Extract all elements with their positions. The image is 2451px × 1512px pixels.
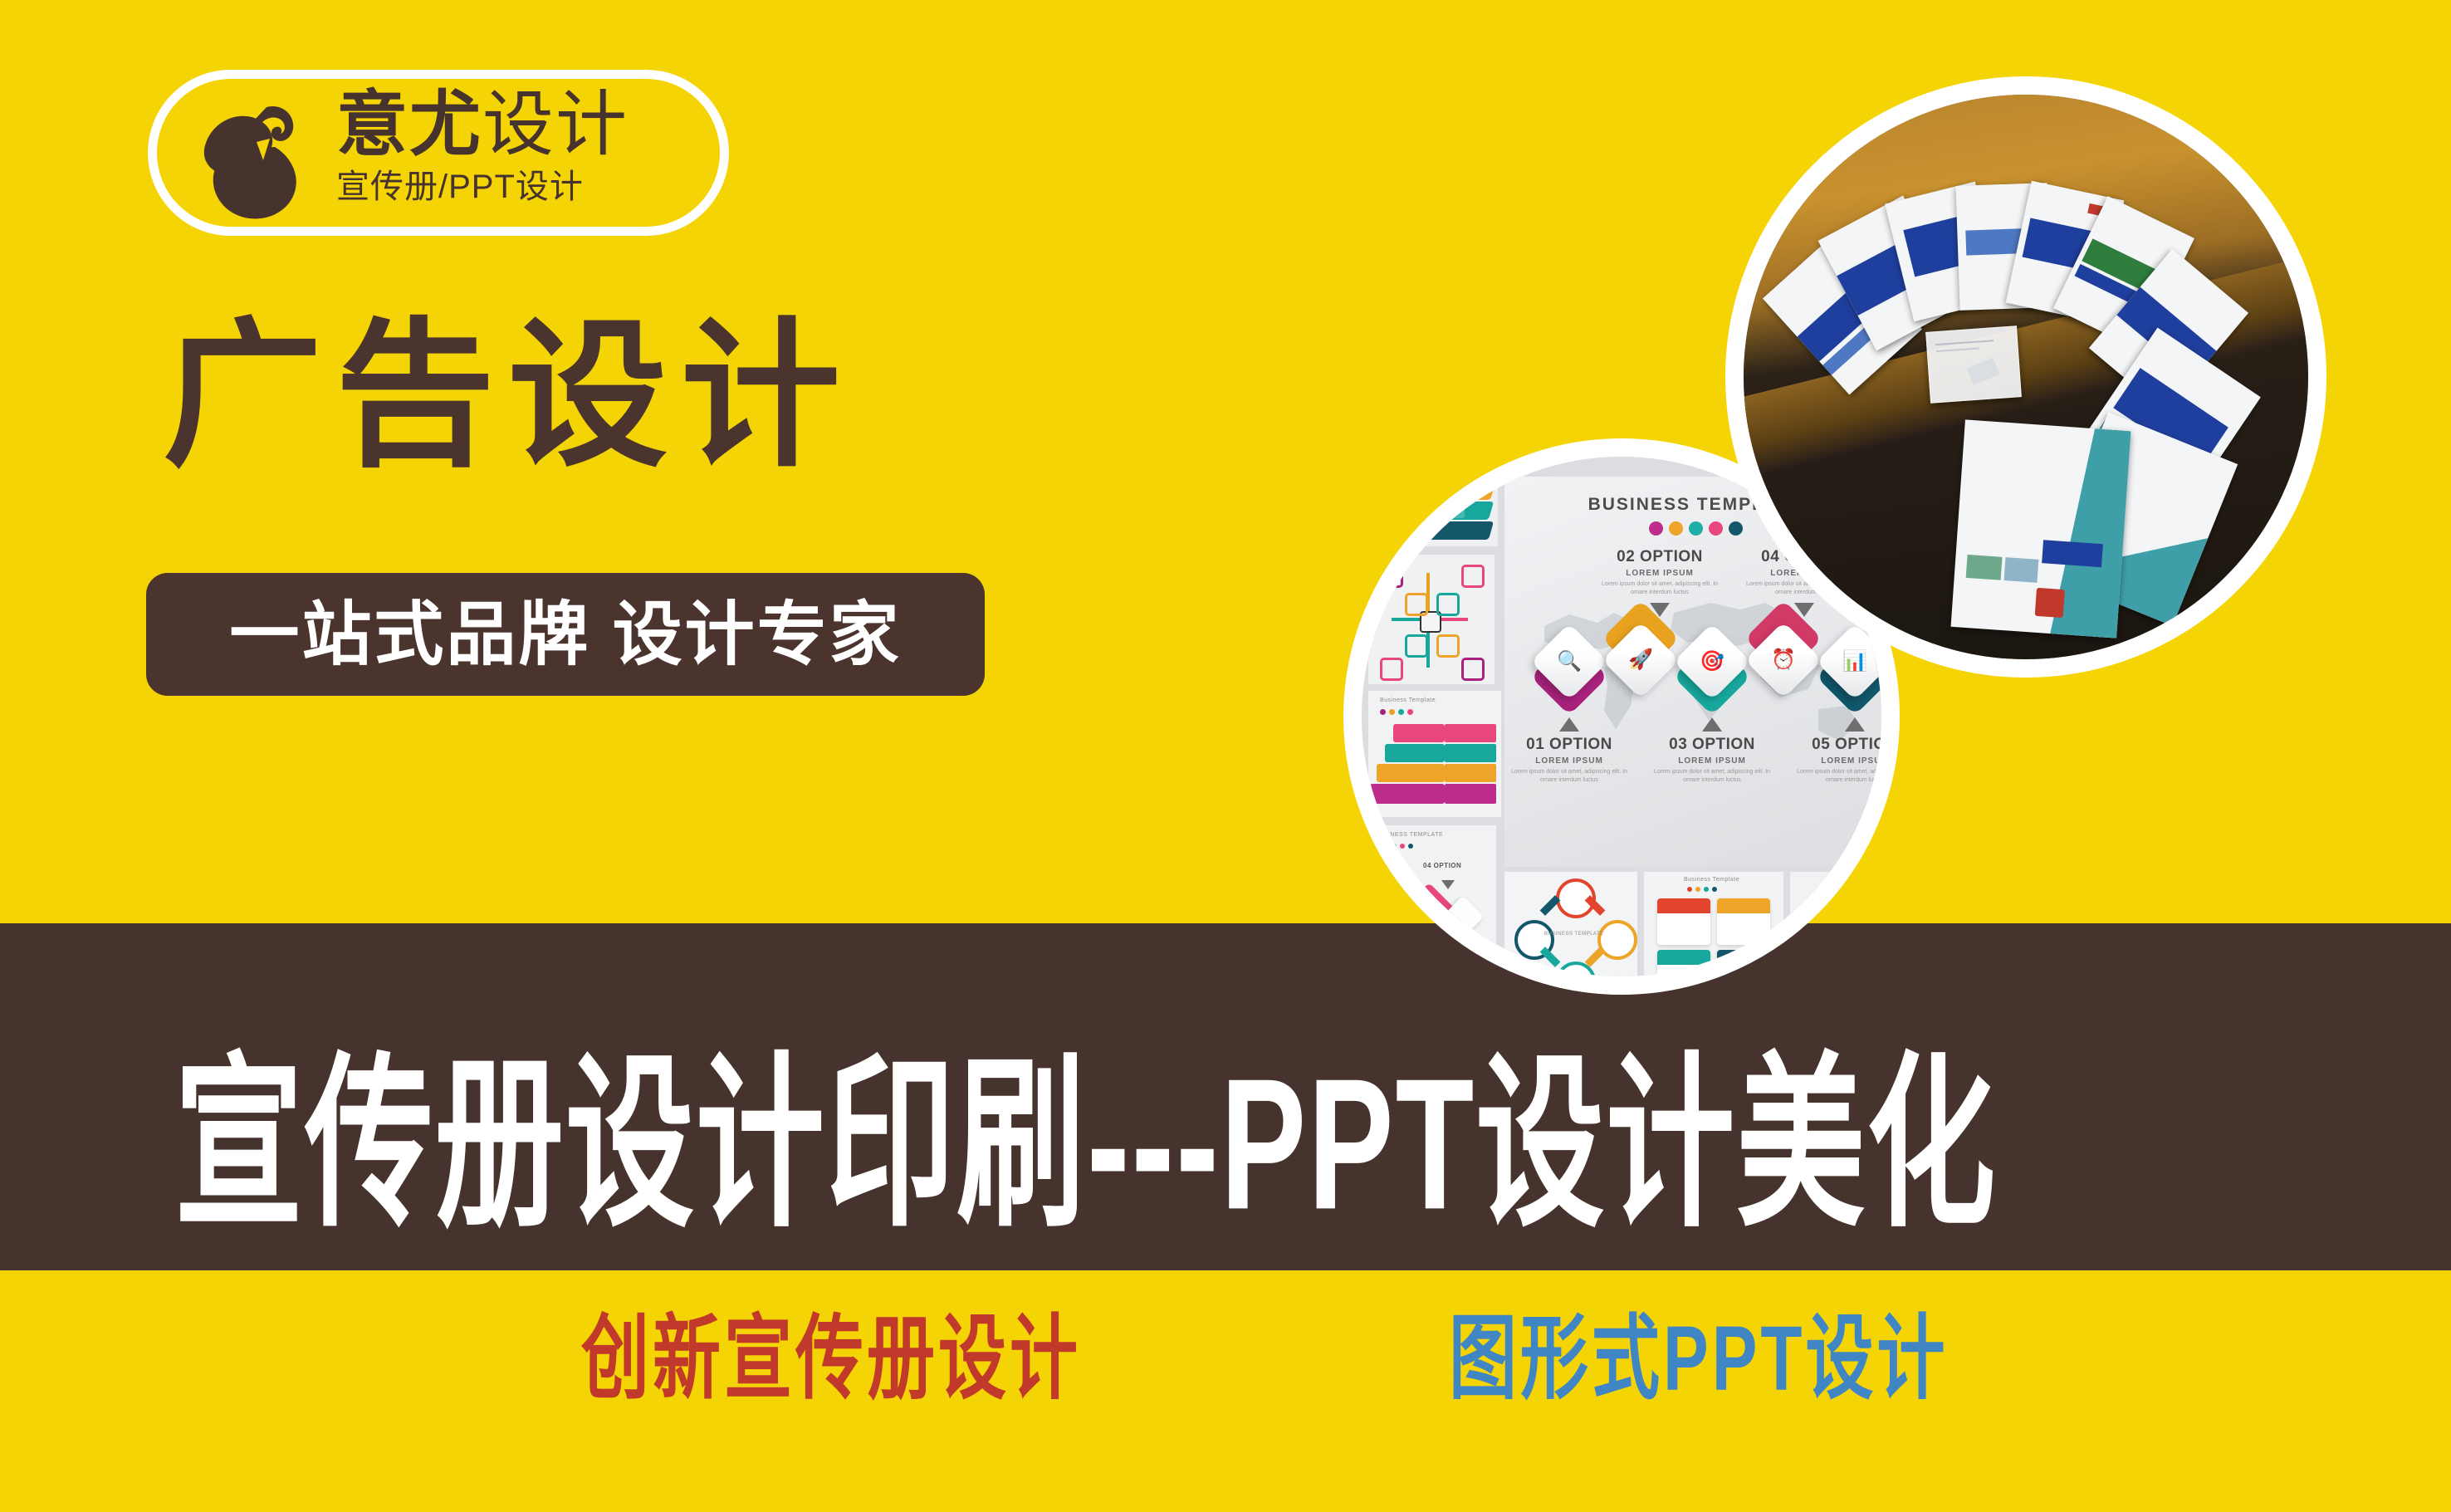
tagline-badge: 一站式品牌 设计专家	[146, 573, 985, 696]
option-01-number: 01 OPTION	[1507, 736, 1632, 754]
cycle-thumbnail: BUSINESS TEMPLATE	[1504, 872, 1637, 995]
arrow-thumb-label: 04 OPTION	[1423, 862, 1461, 869]
option-01-diamond: 🔍	[1531, 631, 1607, 707]
option-05-body: Lorem ipsum dolor sit amet, adipiscing e…	[1793, 768, 1900, 785]
promo-banner: 意尤设计 宣传册/PPT设计 广告设计 一站式品牌 设计专家	[0, 0, 2451, 1512]
arrow-thumb-title: BUSINESS TEMPLATE	[1375, 832, 1443, 838]
right-thumb-title: Business	[1827, 878, 1853, 884]
option-05-arrow-icon	[1845, 717, 1865, 732]
business-card-holder	[1925, 325, 2022, 403]
steps-thumbnail: Business Template	[1644, 872, 1783, 995]
option-02-label: LOREM IPSUM	[1597, 569, 1722, 578]
brochure-photo-circle	[1725, 76, 2326, 678]
option-03-arrow-icon	[1702, 717, 1722, 732]
option-01-body: Lorem ipsum dolor sit amet, adipiscing e…	[1507, 768, 1632, 785]
option-05: 05 OPTION LOREM IPSUM Lorem ipsum dolor …	[1793, 736, 1900, 785]
option-03-number: 03 OPTION	[1650, 736, 1774, 754]
brand-title-main: 意尤	[336, 85, 482, 164]
footer-label-ppt: 图形式PPT设计	[1449, 1304, 1948, 1416]
cycle-center-label: BUSINESS TEMPLATE	[1544, 932, 1604, 937]
option-02-diamond: 🚀	[1602, 623, 1679, 699]
rocket-icon: 🚀	[1628, 650, 1653, 670]
bird-mascot-icon	[183, 89, 330, 235]
option-02-body: Lorem ipsum dolor sit amet, adipiscing e…	[1597, 580, 1722, 597]
brand-title: 意尤设计	[336, 84, 726, 165]
pyramid-thumb-title: Business Template	[1380, 697, 1436, 703]
band-title: 宣传册设计印刷---PPT设计美化	[174, 988, 1997, 1301]
option-01: 01 OPTION LOREM IPSUM Lorem ipsum dolor …	[1507, 736, 1632, 785]
footer-labels: 创新宣传册设计 图形式PPT设计	[0, 1294, 2451, 1435]
footer-label-brochure: 创新宣传册设计	[581, 1304, 1081, 1416]
brochure-front	[1951, 419, 2131, 638]
page-title: 广告设计	[163, 309, 854, 483]
target-icon: 🎯	[1700, 652, 1725, 672]
cross-layout-thumbnail	[1368, 555, 1495, 684]
option-01-label: LOREM IPSUM	[1507, 756, 1632, 766]
option-01-arrow-icon	[1559, 717, 1579, 732]
option-02: 02 OPTION LOREM IPSUM Lorem ipsum dolor …	[1597, 548, 1722, 597]
steps-thumb-title: Business Template	[1684, 877, 1739, 883]
brand-title-light: 设计	[482, 85, 629, 164]
tagline-text: 一站式品牌 设计专家	[229, 596, 901, 673]
brand-subtitle: 宣传册/PPT设计	[336, 165, 726, 208]
magnifier-icon: 🔍	[1557, 652, 1582, 672]
brand-logo-text: 意尤设计 宣传册/PPT设计	[336, 84, 726, 208]
option-05-label: LOREM IPSUM	[1793, 756, 1900, 766]
option-03-diamond: 🎯	[1674, 631, 1750, 707]
option-03-body: Lorem ipsum dolor sit amet, adipiscing e…	[1650, 768, 1774, 785]
arrow-thumbnail: BUSINESS TEMPLATE 04 OPTION	[1362, 825, 1496, 991]
brand-stamp-icon	[2035, 588, 2065, 618]
option-05-number: 05 OPTION	[1793, 736, 1900, 754]
option-03: 03 OPTION LOREM IPSUM Lorem ipsum dolor …	[1650, 736, 1774, 785]
ribbon-thumbnail	[1373, 438, 1498, 546]
pyramid-thumbnail: Business Template	[1368, 691, 1501, 817]
option-03-label: LOREM IPSUM	[1650, 756, 1774, 766]
right-thumb-label: 06	[1838, 902, 1847, 911]
brochure-photo	[1744, 95, 2308, 659]
option-02-number: 02 OPTION	[1597, 548, 1722, 566]
brand-logo: 意尤设计 宣传册/PPT设计	[148, 70, 729, 236]
